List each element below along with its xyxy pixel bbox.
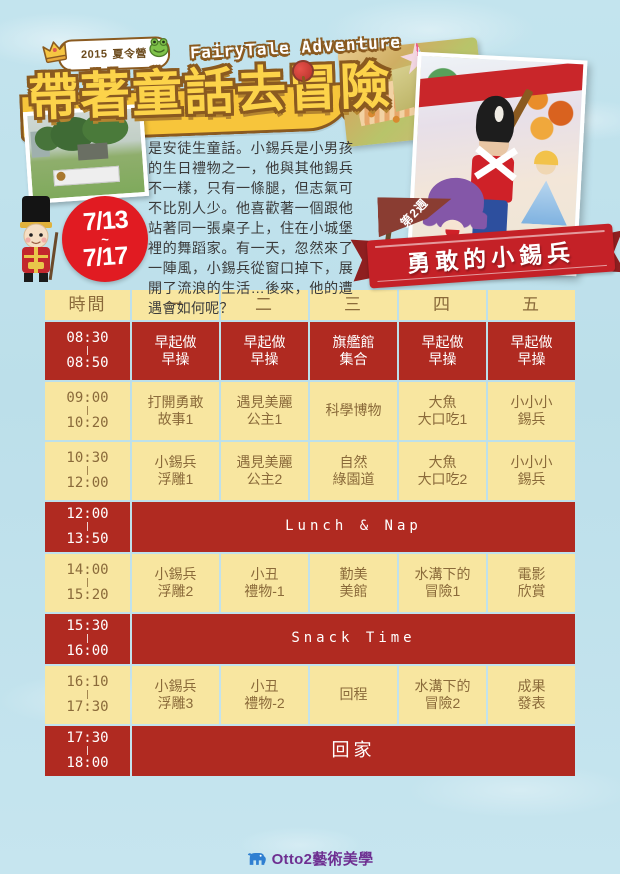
time-slot-cell: 14:00|15:20 [45, 554, 130, 612]
activity-cell: 小錫兵浮雕1 [132, 442, 219, 500]
brand-name: Otto2藝術美學 [272, 848, 374, 869]
activity-cell: 水溝下的冒險2 [399, 666, 486, 724]
activity-cell: 旗艦館集合 [310, 322, 397, 380]
footer-logo: Otto2藝術美學 [0, 842, 620, 874]
full-width-activity-cell: 回家 [132, 726, 575, 776]
activity-cell: 小丑禮物-2 [221, 666, 308, 724]
activity-cell: 科學博物 [310, 382, 397, 440]
schedule-row: 09:00|10:20打開勇敢故事1遇見美麗公主1科學博物大魚大口吃1小小小錫兵 [45, 382, 575, 440]
column-header-day-4: 四 [399, 290, 486, 320]
tin-soldier-mascot-icon [8, 192, 70, 284]
activity-cell: 早起做早操 [132, 322, 219, 380]
activity-cell: 早起做早操 [221, 322, 308, 380]
activity-cell: 小小小錫兵 [488, 442, 575, 500]
activity-cell: 成果發表 [488, 666, 575, 724]
activity-cell: 回程 [310, 666, 397, 724]
date-badge: 7/13 ~ 7/17 [62, 196, 148, 282]
date-from: 7/13 [82, 207, 128, 235]
activity-cell: 小錫兵浮雕3 [132, 666, 219, 724]
schedule-row: 12:00|13:50Lunch & Nap [45, 502, 575, 552]
story-description: 是安徒生童話。小錫兵是小男孩的生日禮物之一，他與其他錫兵不一樣，只有一條腿，但志… [148, 138, 353, 318]
activity-cell: 打開勇敢故事1 [132, 382, 219, 440]
title-chinese: 帶著童話去冒險 [27, 46, 393, 131]
date-to: 7/17 [82, 243, 128, 271]
activity-cell: 早起做早操 [399, 322, 486, 380]
schedule-row: 14:00|15:20小錫兵浮雕2小丑禮物-1勤美美館水溝下的冒險1電影欣賞 [45, 554, 575, 612]
schedule-table: 時間一二三四五08:30|08:50早起做早操早起做早操旗艦館集合早起做早操早起… [43, 288, 577, 778]
poster-page: 2015 夏令營 FairyTale Adventure 帶著童話去冒險 [0, 0, 620, 874]
poster-header: 2015 夏令營 FairyTale Adventure 帶著童話去冒險 [0, 0, 620, 292]
activity-cell: 小小小錫兵 [488, 382, 575, 440]
time-slot-cell: 15:30|16:00 [45, 614, 130, 664]
activity-cell: 大魚大口吃2 [399, 442, 486, 500]
activity-cell: 遇見美麗公主1 [221, 382, 308, 440]
time-slot-cell: 17:30|18:00 [45, 726, 130, 776]
time-slot-cell: 16:10|17:30 [45, 666, 130, 724]
schedule-row: 08:30|08:50早起做早操早起做早操旗艦館集合早起做早操早起做早操 [45, 322, 575, 380]
full-width-activity-cell: Lunch & Nap [132, 502, 575, 552]
ribbon-title: 勇敢的小錫兵 [367, 223, 616, 288]
theme-ribbon: 勇敢的小錫兵 [352, 228, 620, 288]
column-header-day-5: 五 [488, 290, 575, 320]
time-slot-cell: 10:30|12:00 [45, 442, 130, 500]
schedule-row: 10:30|12:00小錫兵浮雕1遇見美麗公主2自然綠園道大魚大口吃2小小小錫兵 [45, 442, 575, 500]
activity-cell: 自然綠園道 [310, 442, 397, 500]
time-slot-cell: 12:00|13:50 [45, 502, 130, 552]
activity-cell: 小丑禮物-1 [221, 554, 308, 612]
elephant-icon [247, 850, 267, 867]
activity-cell: 勤美美館 [310, 554, 397, 612]
activity-cell: 水溝下的冒險1 [399, 554, 486, 612]
activity-cell: 小錫兵浮雕2 [132, 554, 219, 612]
column-header-time: 時間 [45, 290, 130, 320]
time-slot-cell: 09:00|10:20 [45, 382, 130, 440]
activity-cell: 早起做早操 [488, 322, 575, 380]
activity-cell: 遇見美麗公主2 [221, 442, 308, 500]
activity-cell: 電影欣賞 [488, 554, 575, 612]
time-slot-cell: 08:30|08:50 [45, 322, 130, 380]
activity-cell: 大魚大口吃1 [399, 382, 486, 440]
schedule-row: 15:30|16:00Snack Time [45, 614, 575, 664]
full-width-activity-cell: Snack Time [132, 614, 575, 664]
schedule-row: 17:30|18:00回家 [45, 726, 575, 776]
schedule-row: 16:10|17:30小錫兵浮雕3小丑禮物-2回程水溝下的冒險2成果發表 [45, 666, 575, 724]
